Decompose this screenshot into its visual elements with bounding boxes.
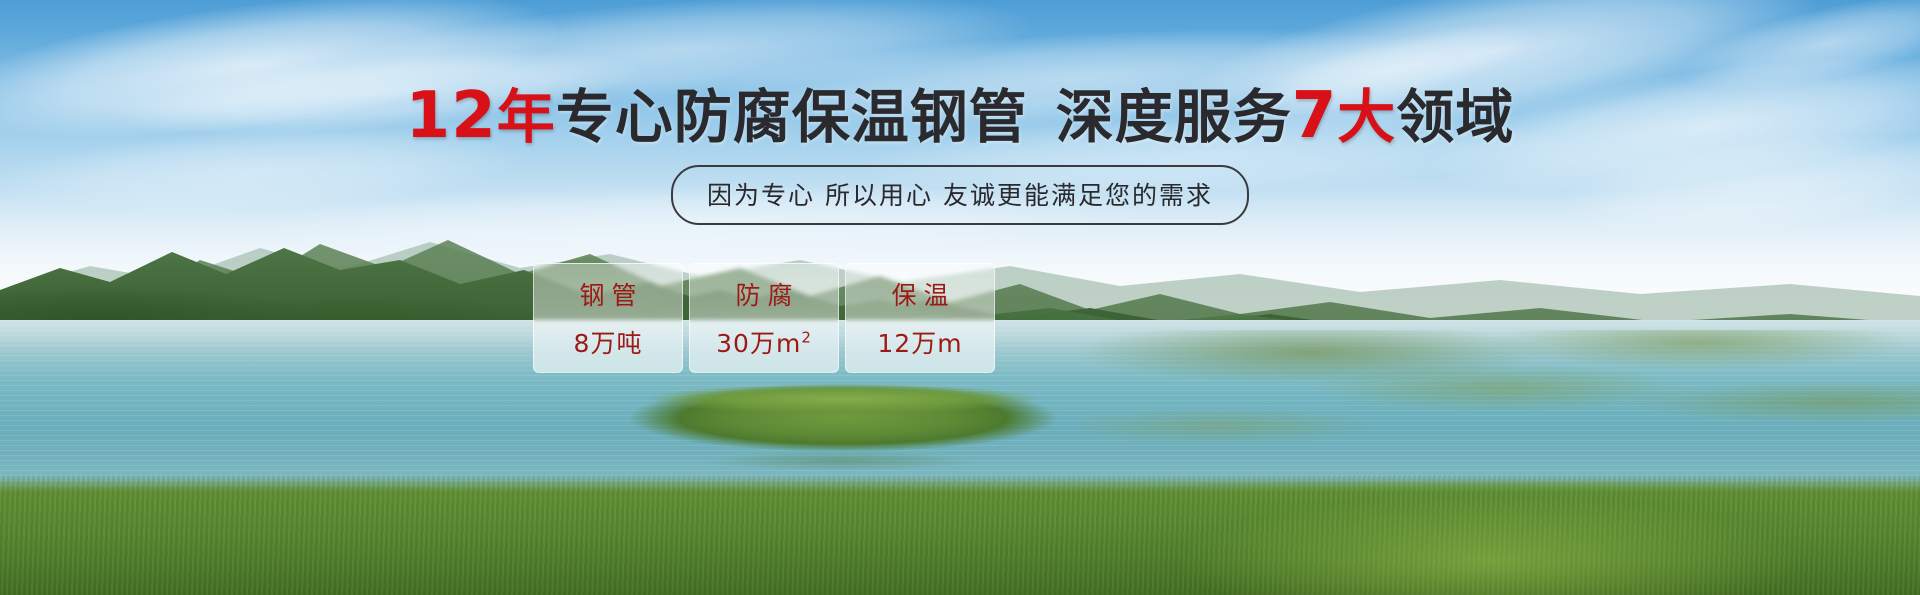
stat-card-label: 保温 — [884, 276, 955, 312]
stat-card-steel-pipe: 钢管 8万吨 — [533, 263, 683, 373]
stat-card-value: 30万m2 — [716, 324, 812, 360]
stat-card-list: 钢管 8万吨 防腐 30万m2 保温 12万m — [533, 263, 995, 373]
stat-value-text: 30万m — [716, 329, 801, 358]
stat-card-insulation: 保温 12万m — [845, 263, 995, 373]
headline-segment-fields: 领域 — [1396, 83, 1514, 151]
stat-card-value: 12万m — [877, 324, 962, 360]
headline-fields-number: 7 — [1292, 79, 1338, 153]
subtitle-container: 因为专心 所以用心 友诚更能满足您的需求 — [0, 165, 1920, 225]
hero-banner: 12年专心防腐保温钢管深度服务7大领域 因为专心 所以用心 友诚更能满足您的需求… — [0, 0, 1920, 595]
stat-value-text: 12万m — [877, 329, 962, 358]
headline-segment-service: 深度服务 — [1056, 83, 1292, 151]
stat-card-anticorrosion: 防腐 30万m2 — [689, 263, 839, 373]
headline-fields-unit: 大 — [1337, 83, 1396, 151]
stat-value-superscript: 2 — [801, 329, 812, 347]
stat-card-label: 防腐 — [728, 276, 799, 312]
page-title: 12年专心防腐保温钢管深度服务7大领域 — [0, 84, 1920, 148]
stat-card-value: 8万吨 — [574, 324, 643, 360]
headline-segment-focus: 专心防腐保温钢管 — [556, 83, 1028, 151]
banner-content: 12年专心防腐保温钢管深度服务7大领域 因为专心 所以用心 友诚更能满足您的需求… — [0, 0, 1920, 595]
stat-value-text: 8万吨 — [574, 329, 643, 358]
stat-card-label: 钢管 — [572, 276, 643, 312]
headline-years-number: 12 — [406, 79, 497, 153]
subtitle-pill: 因为专心 所以用心 友诚更能满足您的需求 — [671, 165, 1249, 225]
headline-years-unit: 年 — [497, 83, 556, 151]
